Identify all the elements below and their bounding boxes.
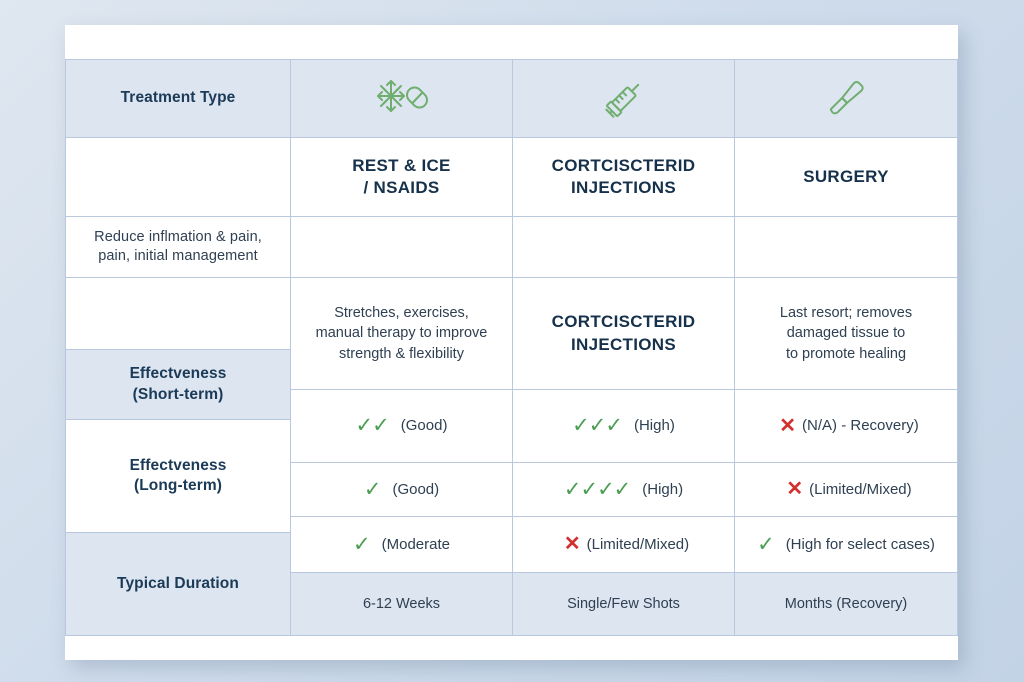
rating-marks: ✕ (Limited/Mixed) [780, 479, 911, 500]
cell-text: Single/Few Shots [567, 594, 680, 615]
cell-rest-ice-purpose [291, 217, 513, 278]
row-label-blank-1 [66, 138, 291, 217]
check-marks: ✓✓ [356, 415, 389, 436]
cell-rest-ice-extra: ✓ (Moderate [291, 517, 513, 573]
column-title-corticosteroid: CORTCISCTERID INJECTIONS [513, 138, 735, 217]
rating-marks: ✓✓ (Good) [356, 415, 448, 436]
cell-text: Last resort; removes damaged tissue to t… [780, 303, 912, 365]
row-label-treatment-type: Treatment Type [66, 60, 291, 138]
cell-corticosteroid-short-term: ✓✓✓ (High) [513, 390, 735, 463]
rating-marks: ✓ (High for select cases) [757, 534, 935, 555]
check-marks: ✓✓✓✓ [564, 479, 630, 500]
document-card: Treatment Type Reduce inflmation & pain,… [65, 25, 958, 660]
rating-marks: ✕ (Limited/Mixed) [558, 534, 689, 555]
cross-mark: ✕ [786, 479, 803, 499]
cell-text: Stretches, exercises, manual therapy to … [316, 303, 488, 365]
cell-rest-ice-duration: 6-12 Weeks [291, 573, 513, 635]
column-header-icon-surgery [735, 60, 957, 138]
column-header-icon-rest-ice [291, 60, 513, 138]
snowflake-pill-icon [301, 62, 502, 135]
comparison-table: Treatment Type Reduce inflmation & pain,… [65, 59, 958, 636]
column-title-text: CORTCISCTERID INJECTIONS [552, 155, 696, 199]
rating-marks: ✓ (Moderate [353, 534, 450, 555]
rating-label: (High) [642, 479, 683, 500]
scalpel-icon [745, 62, 947, 135]
rating-marks: ✓✓✓✓ (High) [564, 479, 683, 500]
cell-text: Months (Recovery) [785, 594, 907, 615]
check-marks: ✓✓✓ [572, 415, 622, 436]
cell-surgery-extra: ✓ (High for select cases) [735, 517, 957, 573]
column-title-surgery: SURGERY [735, 138, 957, 217]
cell-surgery-purpose [735, 217, 957, 278]
row-label-blank-2 [66, 278, 291, 350]
cell-rest-ice-short-term: ✓✓ (Good) [291, 390, 513, 463]
cell-text: CORTCISCTERID INJECTIONS [552, 311, 696, 355]
rating-marks: ✕ (N/A) - Recovery) [773, 415, 918, 436]
row-label-text: Effectveness (Long-term) [130, 456, 227, 497]
cell-rest-ice-description: Stretches, exercises, manual therapy to … [291, 278, 513, 390]
cell-surgery-duration: Months (Recovery) [735, 573, 957, 635]
cell-corticosteroid-description: CORTCISCTERID INJECTIONS [513, 278, 735, 390]
cross-mark: ✕ [564, 534, 581, 554]
row-label-typical-duration: Typical Duration [66, 533, 291, 635]
rating-label: (N/A) - Recovery) [802, 415, 919, 436]
cell-corticosteroid-purpose [513, 217, 735, 278]
row-label-purpose: Reduce inflmation & pain, pain, initial … [66, 217, 291, 278]
column-header-icon-corticosteroid [513, 60, 735, 138]
cell-surgery-long-term: ✕ (Limited/Mixed) [735, 463, 957, 517]
column-title-text: SURGERY [803, 166, 889, 188]
rating-marks: ✓✓✓ (High) [572, 415, 675, 436]
check-marks: ✓ [353, 534, 370, 555]
rating-label: (High) [634, 415, 675, 436]
cell-corticosteroid-extra: ✕ (Limited/Mixed) [513, 517, 735, 573]
cell-surgery-description: Last resort; removes damaged tissue to t… [735, 278, 957, 390]
cell-rest-ice-long-term: ✓ (Good) [291, 463, 513, 517]
rating-label: (High for select cases) [786, 534, 935, 555]
rating-label: (Limited/Mixed) [587, 534, 690, 555]
check-marks: ✓ [364, 479, 381, 500]
row-label-text: Reduce inflmation & pain, pain, initial … [94, 228, 262, 266]
syringe-icon [523, 62, 724, 135]
rating-marks: ✓ (Good) [364, 479, 439, 500]
column-title-text: REST & ICE / NSAIDS [352, 155, 450, 199]
rating-label: (Moderate [382, 534, 450, 555]
check-marks: ✓ [757, 534, 774, 555]
rating-label: (Good) [401, 415, 448, 436]
column-title-rest-ice: REST & ICE / NSAIDS [291, 138, 513, 217]
rating-label: (Limited/Mixed) [809, 479, 912, 500]
cell-surgery-short-term: ✕ (N/A) - Recovery) [735, 390, 957, 463]
row-label-text: Effectveness (Short-term) [130, 364, 227, 405]
cell-corticosteroid-duration: Single/Few Shots [513, 573, 735, 635]
row-label-effectiveness-short-term: Effectveness (Short-term) [66, 350, 291, 420]
screenshot-stage: Treatment Type Reduce inflmation & pain,… [0, 0, 1024, 682]
row-label-effectiveness-long-term: Effectveness (Long-term) [66, 420, 291, 533]
cell-corticosteroid-long-term: ✓✓✓✓ (High) [513, 463, 735, 517]
row-label-text: Treatment Type [121, 88, 236, 108]
cross-mark: ✕ [779, 416, 796, 436]
rating-label: (Good) [392, 479, 439, 500]
row-label-text: Typical Duration [117, 574, 239, 594]
cell-text: 6-12 Weeks [363, 594, 440, 615]
